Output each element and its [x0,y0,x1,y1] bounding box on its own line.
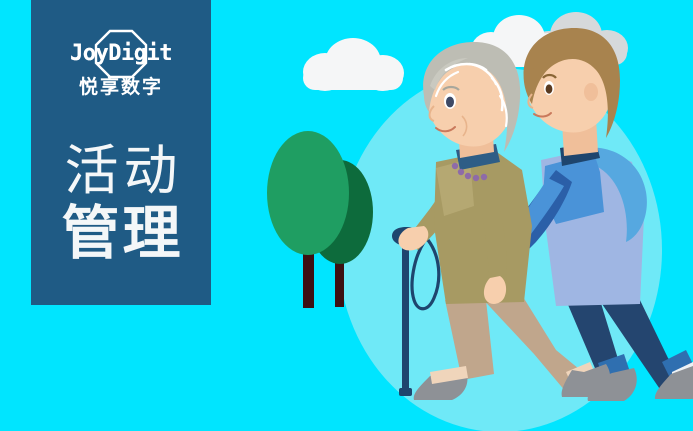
poster-canvas: JoyDigit 悦享数字 活动 管理 [0,0,693,431]
brand-wordmark: JoyDigit [70,43,172,65]
cane-tip [399,388,412,396]
young-man-pupil [546,84,553,93]
page-title: 活动 管理 [58,143,183,263]
brand-panel: JoyDigit 悦享数字 活动 管理 [31,0,211,305]
page-title-line-1: 活动 [59,143,182,198]
woman-pupil [446,97,454,108]
brand-lockup: JoyDigit 悦享数字 [46,33,196,113]
cane-shaft [402,242,409,394]
page-title-line-2: 管理 [58,204,183,263]
young-man-ear [584,83,598,101]
brand-subtitle: 悦享数字 [79,78,163,97]
